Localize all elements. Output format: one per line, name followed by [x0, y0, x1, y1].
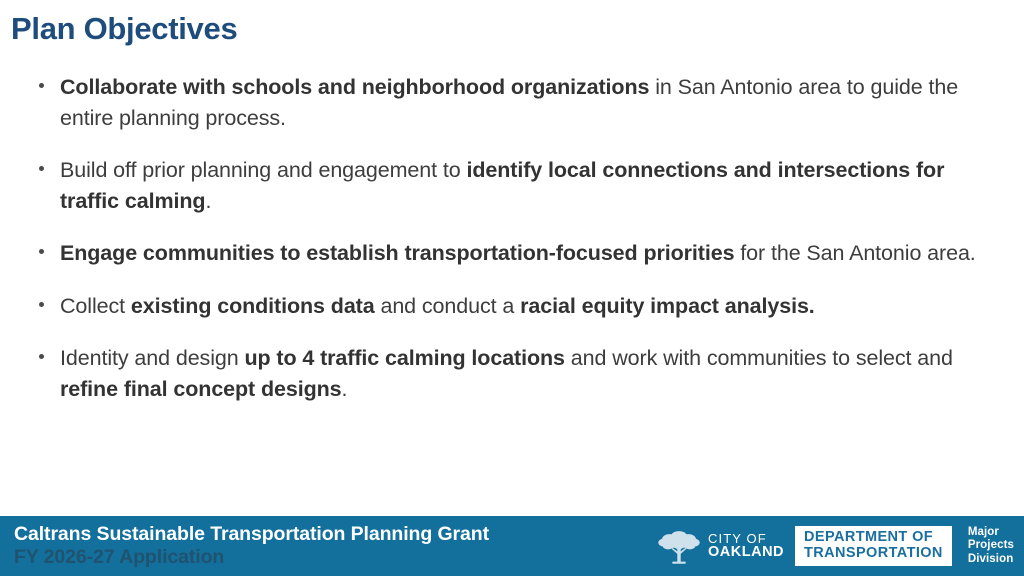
- bullet-dot-icon: [39, 166, 44, 171]
- slide-canvas: Plan Objectives Collaborate with schools…: [0, 0, 1024, 576]
- footer-fiscal-year: FY 2026-27 Application: [14, 546, 489, 569]
- city-of-oakland-wordmark: CITY OF OAKLAND: [708, 532, 784, 561]
- oakland-label: OAKLAND: [708, 545, 784, 560]
- list-item-text: Collect existing conditions data and con…: [60, 294, 815, 318]
- department-of-label: DEPARTMENT OF: [804, 530, 943, 545]
- bullet-dot-icon: [39, 249, 44, 254]
- major-projects-division-label: Major Projects Division: [968, 526, 1014, 566]
- department-of-transportation-badge: DEPARTMENT OF TRANSPORTATION: [795, 526, 952, 565]
- bullet-dot-icon: [39, 83, 44, 88]
- list-item: Collaborate with schools and neighborhoo…: [34, 72, 984, 133]
- list-item-text: Engage communities to establish transpor…: [60, 241, 976, 265]
- list-item-text: Build off prior planning and engagement …: [60, 158, 944, 213]
- bullet-dot-icon: [39, 302, 44, 307]
- oak-tree-icon: [657, 525, 701, 567]
- transportation-label: TRANSPORTATION: [804, 546, 943, 561]
- list-item: Collect existing conditions data and con…: [34, 291, 984, 322]
- division-line-major: Major: [968, 526, 1014, 539]
- footer-bar: Caltrans Sustainable Transportation Plan…: [0, 516, 1024, 576]
- list-item: Engage communities to establish transpor…: [34, 238, 984, 269]
- division-line-division: Division: [968, 553, 1014, 566]
- page-title: Plan Objectives: [11, 11, 237, 47]
- objectives-list: Collaborate with schools and neighborhoo…: [34, 72, 984, 404]
- footer-grant-title: Caltrans Sustainable Transportation Plan…: [14, 523, 489, 546]
- list-item: Identity and design up to 4 traffic calm…: [34, 343, 984, 404]
- bullet-dot-icon: [39, 354, 44, 359]
- oakland-dot-logo-lockup: CITY OF OAKLAND DEPARTMENT OF TRANSPORTA…: [657, 525, 1024, 567]
- list-item-text: Identity and design up to 4 traffic calm…: [60, 346, 953, 401]
- division-line-projects: Projects: [968, 539, 1014, 552]
- city-of-label: CITY OF: [708, 532, 784, 546]
- list-item: Build off prior planning and engagement …: [34, 155, 984, 216]
- footer-grant-info: Caltrans Sustainable Transportation Plan…: [0, 523, 489, 569]
- list-item-text: Collaborate with schools and neighborhoo…: [60, 75, 958, 130]
